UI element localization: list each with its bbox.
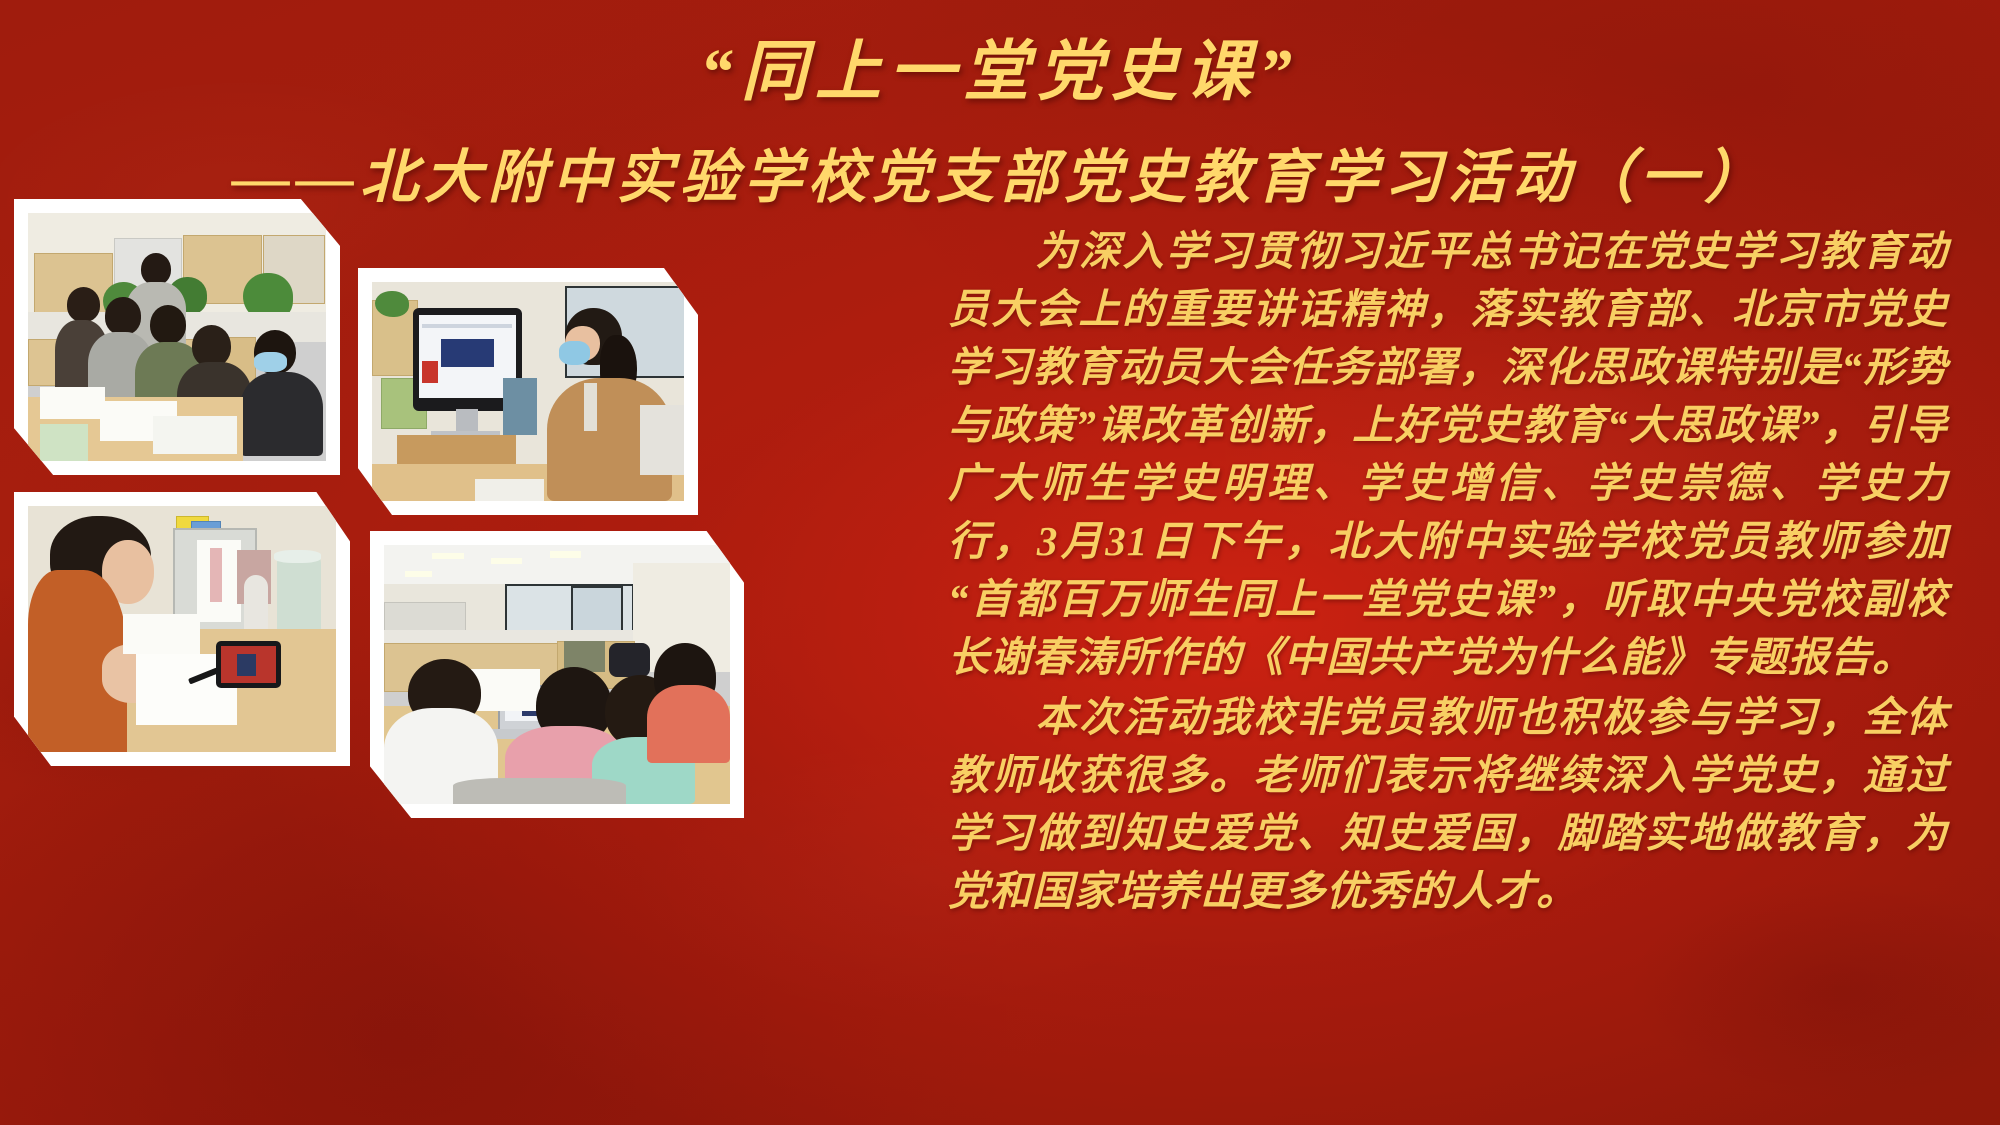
scene-imac-lecture bbox=[372, 282, 684, 501]
page-subtitle: ——北大附中实验学校党支部党史教育学习活动（一） bbox=[0, 130, 2000, 214]
article-paragraph-1: 为深入学习贯彻习近平总书记在党史学习教育动员大会上的重要讲话精神，落实教育部、北… bbox=[948, 222, 1948, 686]
photo-group-laptop bbox=[370, 531, 744, 818]
photo-teachers-meeting bbox=[14, 199, 340, 475]
photo-teacher-notes-image bbox=[28, 506, 336, 752]
photo-group-laptop-image bbox=[384, 545, 730, 804]
page-title: “同上一堂党史课” bbox=[0, 18, 2000, 114]
photo-teacher-imac-image bbox=[372, 282, 684, 501]
article-paragraph-2: 本次活动我校非党员教师也积极参与学习，全体教师收获很多。老师们表示将继续深入学党… bbox=[948, 688, 1948, 920]
poster-header: “同上一堂党史课” ——北大附中实验学校党支部党史教育学习活动（一） bbox=[0, 0, 2000, 214]
scene-group-laptop bbox=[384, 545, 730, 804]
photo-teachers-meeting-image bbox=[28, 213, 326, 461]
photo-teacher-notes bbox=[14, 492, 350, 766]
article-text: 为深入学习贯彻习近平总书记在党史学习教育动员大会上的重要讲话精神，落实教育部、北… bbox=[948, 222, 1948, 920]
scene-notes-phone bbox=[28, 506, 336, 752]
poster-canvas: “同上一堂党史课” ——北大附中实验学校党支部党史教育学习活动（一） bbox=[0, 0, 2000, 1125]
scene-office-meeting bbox=[28, 213, 326, 461]
photo-teacher-imac bbox=[358, 268, 698, 515]
